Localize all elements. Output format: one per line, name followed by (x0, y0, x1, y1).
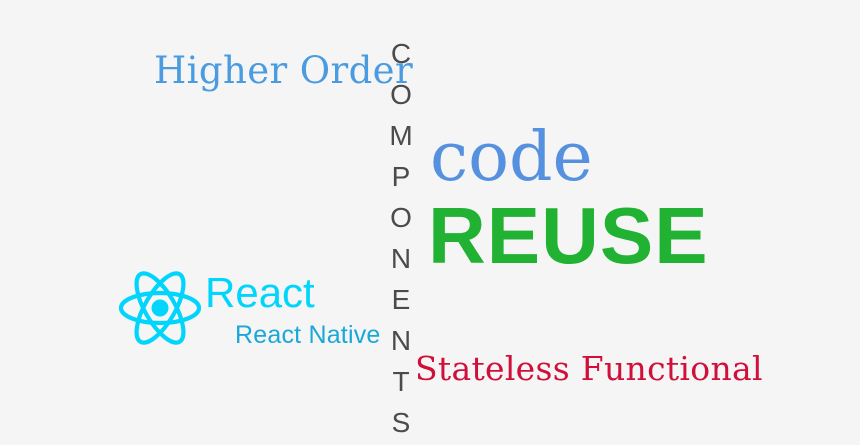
word-cloud-canvas: Higher Order C O M P O N E N T S code RE… (0, 0, 860, 445)
components-letter: O (388, 74, 414, 115)
word-stateless-functional: Stateless Functional (415, 352, 763, 385)
components-letter: C (388, 33, 414, 74)
components-letter: N (388, 320, 414, 361)
word-higher-order: Higher Order (154, 52, 413, 89)
word-react: React (205, 272, 315, 314)
word-react-native: React Native (235, 323, 381, 348)
components-letter: P (388, 156, 414, 197)
components-letter: E (388, 279, 414, 320)
components-letter: M (388, 115, 414, 156)
word-reuse: REUSE (428, 196, 709, 276)
word-code: code (430, 124, 593, 192)
word-components-vertical: C O M P O N E N T S (388, 33, 414, 443)
components-letter: T (388, 361, 414, 402)
components-letter: N (388, 238, 414, 279)
components-letter: S (388, 402, 414, 443)
components-letter: O (388, 197, 414, 238)
react-atom-logo-icon (118, 270, 202, 346)
